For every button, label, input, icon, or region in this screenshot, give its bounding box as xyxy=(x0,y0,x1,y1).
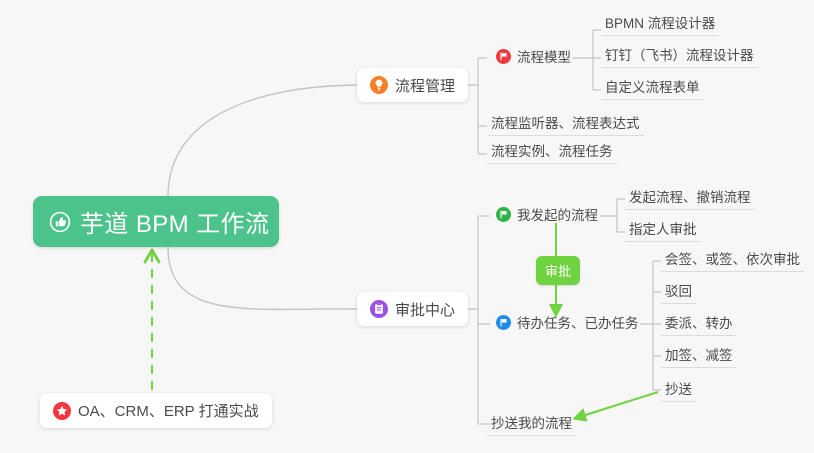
node-delegate-transfer[interactable]: 委派、转办 xyxy=(661,312,737,336)
node-label: 自定义流程表单 xyxy=(605,76,700,96)
node-label: BPMN 流程设计器 xyxy=(605,12,715,32)
branch-approval-center[interactable]: 审批中心 xyxy=(357,292,468,326)
node-reject[interactable]: 驳回 xyxy=(661,280,696,304)
node-label: 钉钉（飞书）流程设计器 xyxy=(605,44,754,64)
branch-label: 流程管理 xyxy=(395,75,455,96)
node-process-instance[interactable]: 流程实例、流程任务 xyxy=(487,140,617,164)
flag-icon xyxy=(496,207,511,222)
node-bpmn-designer[interactable]: BPMN 流程设计器 xyxy=(601,12,719,36)
node-start-cancel-process[interactable]: 发起流程、撤销流程 xyxy=(625,186,755,210)
node-label: 抄送我的流程 xyxy=(491,412,572,432)
annotation-integration-note[interactable]: OA、CRM、ERP 打通实战 xyxy=(40,393,272,428)
node-label: 加签、减签 xyxy=(665,344,733,364)
node-dingtalk-feishu-designer[interactable]: 钉钉（飞书）流程设计器 xyxy=(601,44,758,68)
node-cc[interactable]: 抄送 xyxy=(661,378,696,402)
thumbs-up-icon xyxy=(49,211,71,233)
lightbulb-icon xyxy=(370,76,388,94)
node-cc-my-process[interactable]: 抄送我的流程 xyxy=(487,412,576,436)
node-label: 抄送 xyxy=(665,378,692,398)
node-label: 委派、转办 xyxy=(665,312,733,332)
annotation-label: 审批 xyxy=(545,264,571,279)
node-label: 指定人审批 xyxy=(629,218,697,238)
node-process-listener[interactable]: 流程监听器、流程表达式 xyxy=(487,112,644,136)
root-label: 芋道 BPM 工作流 xyxy=(80,204,269,239)
clipboard-icon xyxy=(370,300,388,318)
node-my-initiated-process[interactable]: 我发起的流程 xyxy=(492,204,602,227)
node-process-model[interactable]: 流程模型 xyxy=(492,46,575,69)
flag-icon xyxy=(496,49,511,64)
node-label: 流程模型 xyxy=(517,46,571,66)
node-label: 驳回 xyxy=(665,280,692,300)
node-label: 流程监听器、流程表达式 xyxy=(491,112,640,132)
node-label: 发起流程、撤销流程 xyxy=(629,186,751,206)
node-custom-process-form[interactable]: 自定义流程表单 xyxy=(601,76,704,100)
node-label: 我发起的流程 xyxy=(517,204,598,224)
node-label: 待办任务、已办任务 xyxy=(517,312,639,332)
node-label: 流程实例、流程任务 xyxy=(491,140,613,160)
mindmap-canvas: 芋道 BPM 工作流 流程管理 流程模型 BPMN 流程设计器 钉钉（飞书）流程 xyxy=(0,0,814,453)
branch-process-management[interactable]: 流程管理 xyxy=(357,68,468,102)
flag-icon xyxy=(496,315,511,330)
annotation-approval-pill[interactable]: 审批 xyxy=(536,256,580,285)
node-add-remove-sign[interactable]: 加签、减签 xyxy=(661,344,737,368)
node-label: 会签、或签、依次审批 xyxy=(665,248,800,268)
annotation-label: OA、CRM、ERP 打通实战 xyxy=(78,400,259,421)
root-node[interactable]: 芋道 BPM 工作流 xyxy=(33,196,279,247)
node-countersign[interactable]: 会签、或签、依次审批 xyxy=(661,248,804,272)
star-icon xyxy=(53,402,71,420)
node-todo-done-tasks[interactable]: 待办任务、已办任务 xyxy=(492,312,643,335)
branch-label: 审批中心 xyxy=(395,299,455,320)
node-assignee-approval[interactable]: 指定人审批 xyxy=(625,218,701,242)
